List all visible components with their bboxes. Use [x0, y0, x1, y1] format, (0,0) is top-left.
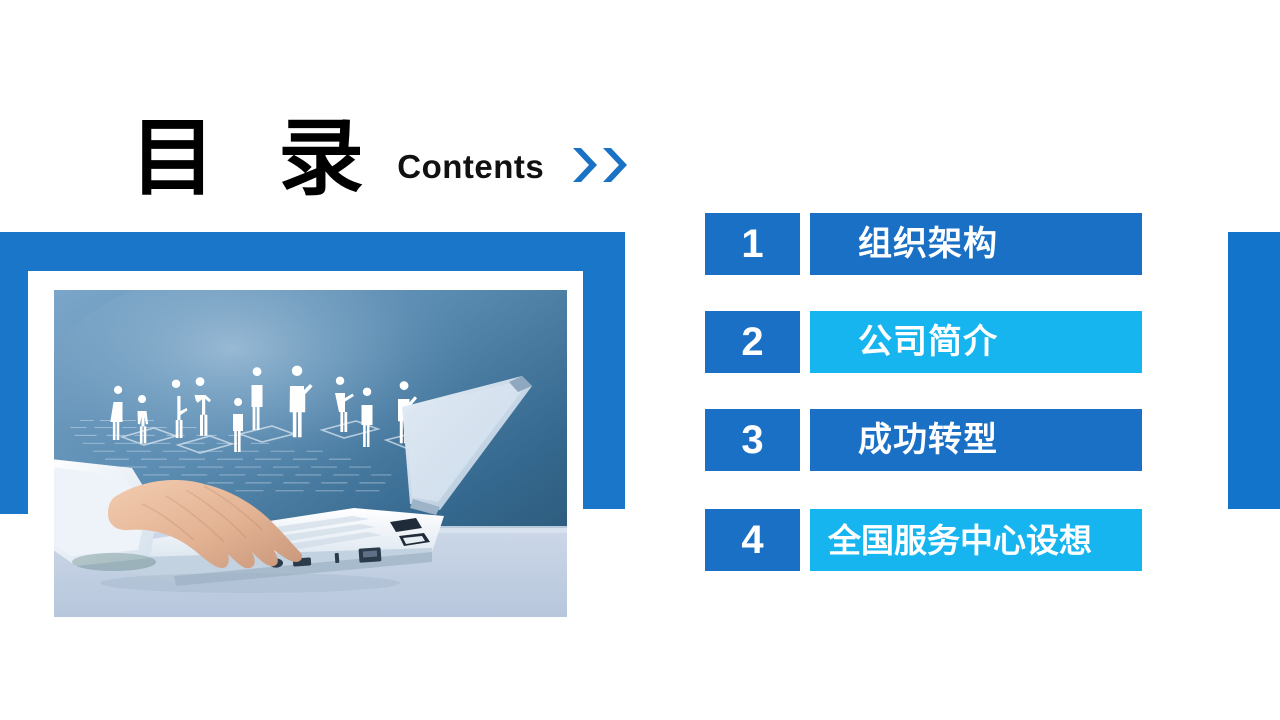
photo-frame-top-bar	[0, 232, 625, 271]
page-subtitle: Contents	[397, 150, 544, 183]
slide-photo	[54, 290, 567, 617]
contents-item-1-label: 组织架构	[810, 213, 1142, 275]
slide-title-group: 目 录 Contents	[130, 108, 650, 208]
contents-item-2-label: 公司简介	[810, 311, 1142, 373]
photo-illustration	[54, 290, 567, 617]
contents-item-3[interactable]: 3 成功转型	[705, 409, 1142, 471]
contents-item-2-number: 2	[705, 311, 800, 373]
contents-item-4[interactable]: 4 全国服务中心设想	[705, 509, 1142, 571]
contents-item-1-number: 1	[705, 213, 800, 275]
photo-frame-right-bar	[583, 232, 625, 509]
double-chevron-right-icon	[572, 146, 628, 184]
photo-frame-left-bar	[0, 232, 28, 514]
contents-item-4-label: 全国服务中心设想	[810, 509, 1142, 571]
contents-menu: 1 组织架构 2 公司简介 3 成功转型 4 全国服务中心设想	[705, 213, 1142, 571]
slide-canvas: 目 录 Contents	[0, 0, 1280, 720]
right-accent-bar	[1228, 232, 1280, 509]
contents-item-3-number: 3	[705, 409, 800, 471]
chevron-right-icon	[572, 146, 598, 184]
contents-item-3-label: 成功转型	[810, 409, 1142, 471]
chevron-right-icon	[602, 146, 628, 184]
page-title: 目 录	[130, 116, 380, 200]
contents-item-4-number: 4	[705, 509, 800, 571]
contents-item-2[interactable]: 2 公司简介	[705, 311, 1142, 373]
contents-item-1[interactable]: 1 组织架构	[705, 213, 1142, 275]
